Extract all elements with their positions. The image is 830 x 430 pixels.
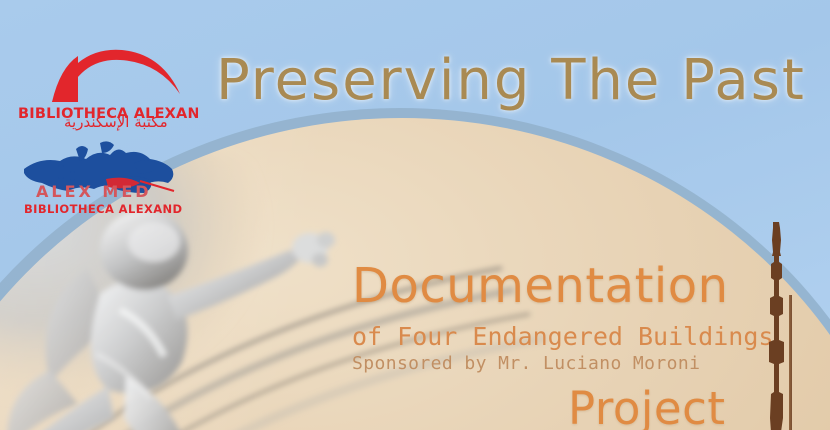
- red-swoosh-disc-mark: [52, 50, 180, 102]
- poster-banner: BIBLIOTHECA ALEXANDRINA مكتبة الإسكندرية…: [0, 0, 830, 430]
- sponsor-line: Sponsored by Mr. Luciano Moroni: [352, 353, 700, 374]
- main-title: Documentation: [352, 258, 729, 314]
- page-title: Preserving The Past: [216, 48, 806, 113]
- alexmed-subtext: BIBLIOTHECA ALEXANDRINA: [24, 202, 182, 216]
- alexmed-wordmark: ALEX MED: [36, 182, 152, 201]
- building-edge-line: [789, 295, 792, 430]
- subtitle: of Four Endangered Buildings: [352, 322, 773, 351]
- bibliotheca-alexandrina-logo[interactable]: BIBLIOTHECA ALEXANDRINA مكتبة الإسكندرية: [12, 40, 198, 128]
- bibliotheca-arabic-text: مكتبة الإسكندرية: [64, 113, 168, 131]
- alexmed-logo[interactable]: ALEX MED BIBLIOTHECA ALEXANDRINA: [14, 135, 182, 217]
- project-word: Project: [568, 382, 725, 430]
